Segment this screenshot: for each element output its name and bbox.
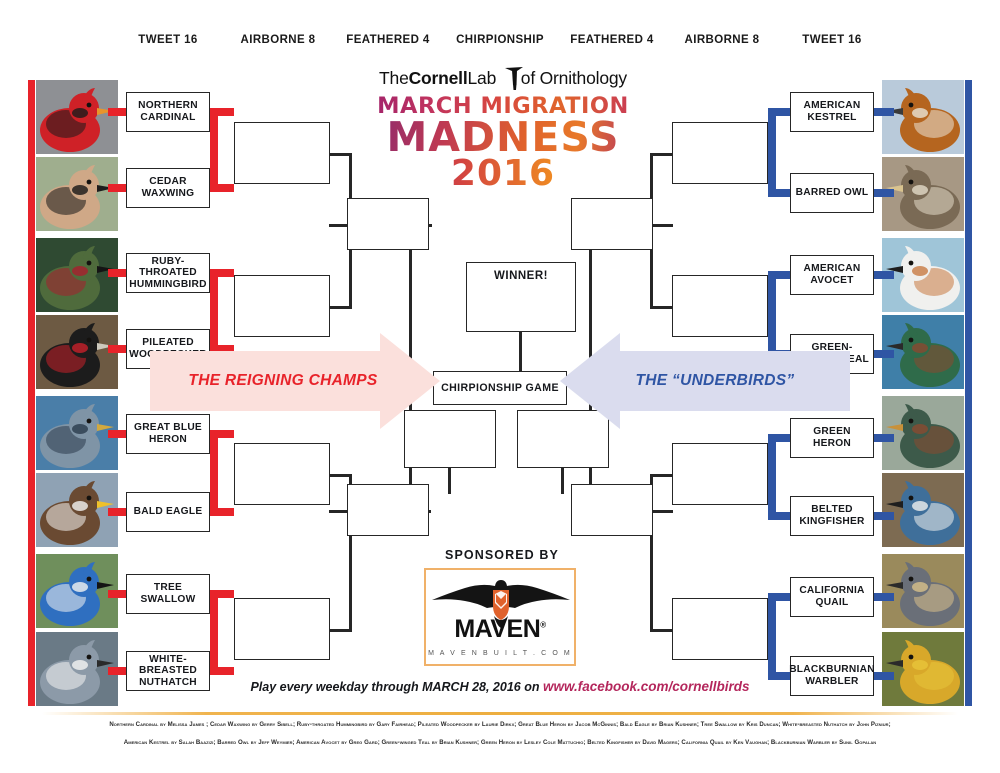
blue-stub-right-5 — [874, 512, 894, 520]
matchup-right-r3-1[interactable] — [571, 484, 653, 536]
blue-stub-right-1 — [874, 189, 894, 197]
blue-stub-right-0 — [874, 108, 894, 116]
red-stub-left-2 — [108, 269, 128, 277]
photo-green-heron — [882, 396, 964, 470]
seed-box-right-1[interactable]: BARRED OWL — [790, 173, 874, 213]
photo-great-blue-heron — [36, 396, 118, 470]
blue-vert-0 — [768, 108, 776, 197]
left-red-rail — [28, 80, 35, 706]
photo-tree-swallow — [36, 554, 118, 628]
photo-northern-cardinal — [36, 80, 118, 154]
red-stub-left-0 — [108, 108, 128, 116]
blk-champ-stem-left — [448, 468, 451, 494]
maven-logo-card[interactable]: MAVEN® M A V E N B U I L T . C O M — [424, 568, 576, 666]
madness-line: MADNESS — [372, 119, 634, 157]
photo-pileated-woodpecker — [36, 315, 118, 389]
blk-r2-top-0 — [650, 153, 672, 156]
winner-box[interactable]: WINNER! — [466, 262, 576, 332]
seed-box-left-5[interactable]: BALD EAGLE — [126, 492, 210, 532]
winner-label: WINNER! — [494, 270, 548, 283]
underbirds-arrow: THE “UNDERBIRDS” — [560, 333, 850, 429]
photo-green-winged-teal — [882, 315, 964, 389]
blk-l2-out-0 — [329, 224, 349, 227]
blue-stub-right-2 — [874, 271, 894, 279]
photo-barred-owl — [882, 157, 964, 231]
red-stub-left-1 — [108, 184, 128, 192]
matchup-right-r2-2[interactable] — [672, 443, 768, 505]
cornell-lab-wordmark: TheCornellLab of Ornithology — [372, 68, 634, 92]
photo-credits-line-2: American Kestrel by Salah Baazizi; Barre… — [0, 739, 1000, 746]
matchup-left-r2-2[interactable] — [234, 443, 330, 505]
red-vert-3 — [210, 590, 218, 675]
photo-belted-kingfisher — [882, 473, 964, 547]
seed-box-left-2[interactable]: RUBY-THROATED HUMMINGBIRD — [126, 253, 210, 293]
matchup-right-r3-0[interactable] — [571, 198, 653, 250]
red-stub-left-5 — [108, 508, 128, 516]
blk-winner-stem — [519, 332, 522, 372]
gold-divider — [42, 712, 958, 715]
logo-of-ornithology: of Ornithology — [521, 68, 627, 88]
blue-stub-right-3 — [874, 350, 894, 358]
matchup-right-r2-1[interactable] — [672, 275, 768, 337]
maven-url: M A V E N B U I L T . C O M — [426, 650, 574, 657]
red-stub-left-4 — [108, 430, 128, 438]
facebook-url[interactable]: www.facebook.com/cornellbirds — [543, 679, 750, 694]
seed-box-left-6[interactable]: TREE SWALLOW — [126, 574, 210, 614]
blue-stub-right-4 — [874, 434, 894, 442]
seed-box-right-2[interactable]: AMERICAN AVOCET — [790, 255, 874, 295]
reigning-champs-label: THE REIGNING CHAMPS — [138, 372, 428, 390]
logo-the: The — [379, 68, 409, 88]
red-vert-0 — [210, 108, 218, 192]
photo-bald-eagle — [36, 473, 118, 547]
matchup-left-r3-0[interactable] — [347, 198, 429, 250]
red-stub-left-6 — [108, 590, 128, 598]
cornell-lab-logo: TheCornellLab of Ornithology MARCH MIGRA… — [372, 68, 634, 196]
reigning-champs-arrow: THE REIGNING CHAMPS — [150, 333, 440, 429]
blk-r2-bot-0 — [650, 306, 672, 309]
photo-american-kestrel — [882, 80, 964, 154]
chirpionship-game-header: CHIRPIONSHIP GAME — [433, 371, 567, 405]
blue-vert-3 — [768, 593, 776, 680]
blk-r2-out-1 — [653, 510, 673, 513]
sponsored-by-label: SPONSORED BY — [424, 548, 580, 562]
photo-american-avocet — [882, 238, 964, 312]
matchup-right-r2-0[interactable] — [672, 122, 768, 184]
right-blue-rail — [965, 80, 972, 706]
red-stub-left-7 — [108, 667, 128, 675]
photo-california-quail — [882, 554, 964, 628]
year-line: 2016 — [372, 157, 634, 191]
red-stub-left-3 — [108, 345, 128, 353]
blk-r2-bot-1 — [650, 629, 672, 632]
play-line: Play every weekday through MARCH 28, 201… — [0, 679, 1000, 694]
round-header-6: TWEET 16 — [762, 34, 902, 46]
matchup-left-r2-3[interactable] — [234, 598, 330, 660]
blk-r2-top-1 — [650, 474, 672, 477]
seed-box-left-0[interactable]: NORTHERN CARDINAL — [126, 92, 210, 132]
seed-box-right-5[interactable]: BELTED KINGFISHER — [790, 496, 874, 536]
seed-box-right-6[interactable]: CALIFORNIA QUAIL — [790, 577, 874, 617]
matchup-left-r2-1[interactable] — [234, 275, 330, 337]
matchup-right-r2-3[interactable] — [672, 598, 768, 660]
sponsor-block: SPONSORED BY MAVEN® M A V E N B U I L T … — [424, 548, 580, 670]
photo-white-breasted-nuthatch — [36, 632, 118, 706]
bracket-poster: TWEET 16AIRBORNE 8FEATHERED 4CHIRPIONSHI… — [0, 0, 1000, 773]
photo-blackburnian-warbler — [882, 632, 964, 706]
photo-ruby-throated-hummingbird — [36, 238, 118, 312]
red-vert-2 — [210, 430, 218, 516]
matchup-left-r2-0[interactable] — [234, 122, 330, 184]
hummingbird-icon — [503, 65, 525, 91]
seed-box-right-0[interactable]: AMERICAN KESTREL — [790, 92, 874, 132]
matchup-left-r3-1[interactable] — [347, 484, 429, 536]
play-text: Play every weekday through MARCH 28, 201… — [250, 680, 539, 694]
blk-champ-stem-right — [561, 468, 564, 494]
logo-cornell: Cornell — [409, 68, 468, 88]
round-headers: TWEET 16AIRBORNE 8FEATHERED 4CHIRPIONSHI… — [0, 34, 1000, 52]
photo-credits-line-1: Northern Cardinal by Melissa James ; Ced… — [0, 721, 1000, 728]
blk-r2-out-0 — [653, 224, 673, 227]
blue-vert-2 — [768, 434, 776, 520]
chirpionship-label: CHIRPIONSHIP GAME — [441, 382, 559, 395]
underbirds-label: THE “UNDERBIRDS” — [570, 372, 860, 390]
blk-l2-out-1 — [329, 510, 349, 513]
maven-wordmark: MAVEN® — [426, 615, 574, 644]
logo-lab: Lab — [468, 68, 497, 88]
photo-cedar-waxwing — [36, 157, 118, 231]
seed-box-left-1[interactable]: CEDAR WAXWING — [126, 168, 210, 208]
blue-stub-right-6 — [874, 593, 894, 601]
